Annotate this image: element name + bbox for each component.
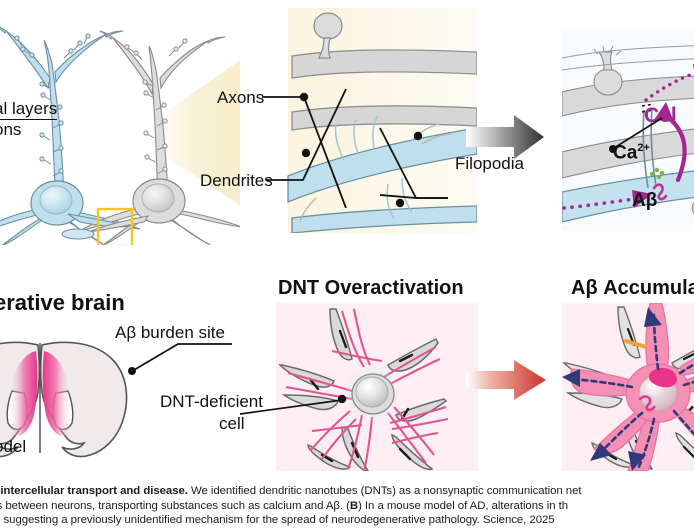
title-abeta-accumulation: Aβ Accumulat [571, 277, 694, 300]
label-abeta: Aβ [632, 190, 657, 212]
label-cortical-layers: al layers [0, 99, 57, 120]
label-ad-model: odel [0, 437, 26, 456]
abeta-accumulation-illustration [562, 303, 694, 471]
figure-caption: e intercellular transport and disease. W… [0, 484, 694, 528]
gradient-arrow-red [466, 358, 550, 404]
caption-panel-b-label: B [350, 500, 358, 512]
leader-line-cell [600, 100, 670, 170]
title-dnt-overactivation: DNT Overactivation [278, 277, 464, 300]
caption-line1-rest: We identified dendritic nanotubes (DNTs)… [188, 485, 582, 497]
label-dnt-deficient-line2: cell [219, 414, 245, 433]
caption-bold-lead: e intercellular transport and disease. [0, 485, 188, 497]
scientific-figure: al layers ons [0, 0, 694, 532]
leader-line-burden [60, 338, 240, 383]
label-dendrites: Dendrites [200, 171, 273, 190]
caption-line3: n, suggesting a previously unidentified … [0, 514, 555, 526]
label-axons: Axons [217, 88, 264, 107]
panel-bottom-right-abeta-accumulation [562, 303, 694, 471]
caption-line2-a: its between neurons, transporting substa… [0, 500, 350, 512]
label-neurons: ons [0, 120, 21, 139]
gradient-arrow-gray [466, 113, 546, 163]
caption-line2-c: ) In a mouse model of AD, alterations in… [358, 500, 568, 512]
title-neurodegenerative-brain: erative brain [0, 290, 125, 316]
label-dnt-deficient-line1: DNT-deficient [160, 392, 263, 411]
